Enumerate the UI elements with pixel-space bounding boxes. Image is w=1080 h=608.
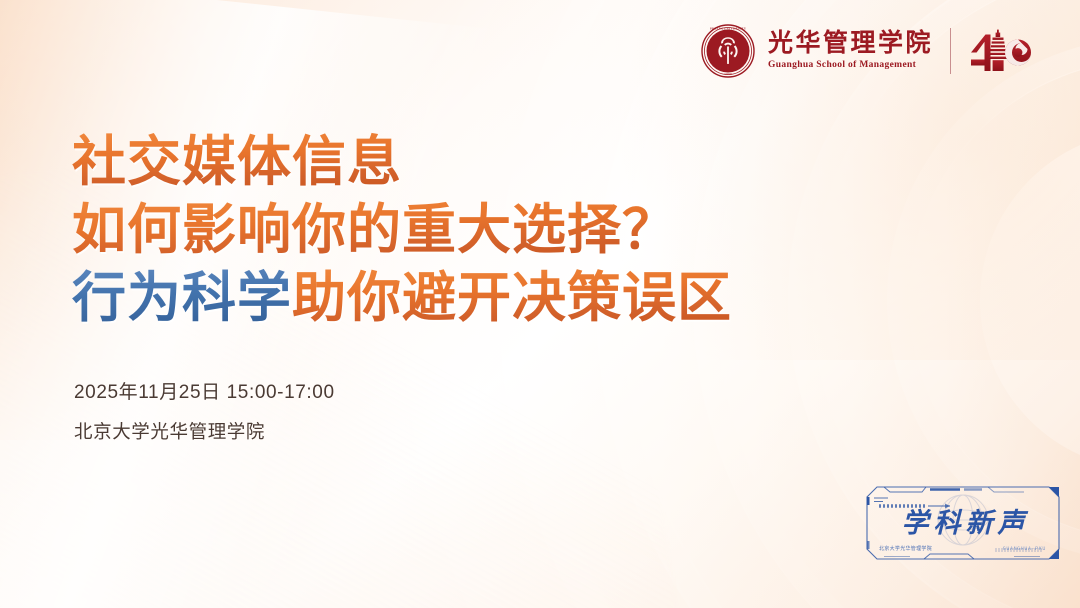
40-anniversary-icon (968, 28, 1032, 74)
title-line-3-highlight: 行为科学 (72, 268, 292, 328)
title-line-2: 如何影响你的重大选择？ (72, 196, 732, 264)
school-name-cn: 光华管理学院 (768, 31, 933, 56)
event-poster: P E K I N G U N I V E R S I T Y 1 8 9 8 … (0, 0, 1080, 608)
svg-text:P E K I N G U N I V E R S I: P E K I N G U N I V E R S I T Y (710, 27, 746, 30)
title-line-1-text: 社交媒体信息 (72, 132, 402, 192)
page-title: 社交媒体信息 如何影响你的重大选择？ 行为科学助你避开决策误区 (72, 128, 732, 332)
badge-subtitle: 北京大学光华管理学院 (879, 545, 932, 552)
svg-text:1 8 9 8: 1 8 9 8 (724, 73, 732, 76)
title-line-3: 行为科学助你避开决策误区 (72, 264, 732, 332)
pku-seal-icon: P E K I N G U N I V E R S I T Y 1 8 9 8 (701, 24, 755, 78)
title-line-1: 社交媒体信息 (72, 128, 732, 196)
event-meta: 2025年11月25日 15:00-17:00 北京大学光华管理学院 (74, 383, 335, 442)
school-name-en: Guanghua School of Management (768, 61, 933, 71)
brand-logo-lockup: P E K I N G U N I V E R S I T Y 1 8 9 8 … (701, 24, 1032, 78)
school-name-block: 光华管理学院 Guanghua School of Management (768, 31, 933, 71)
title-line-3-rest: 助你避开决策误区 (292, 268, 732, 328)
title-line-2-text: 如何影响你的重大选择？ (72, 200, 677, 260)
event-datetime: 2025年11月25日 15:00-17:00 (74, 383, 335, 402)
program-badge: 学科新声 北京大学光华管理学院 GUANGHUA·PKU (864, 484, 1062, 562)
badge-code: GUANGHUA·PKU (1003, 546, 1046, 552)
lockup-divider (950, 28, 951, 74)
event-venue: 北京大学光华管理学院 (74, 423, 335, 442)
badge-title: 学科新声 (864, 510, 1062, 537)
